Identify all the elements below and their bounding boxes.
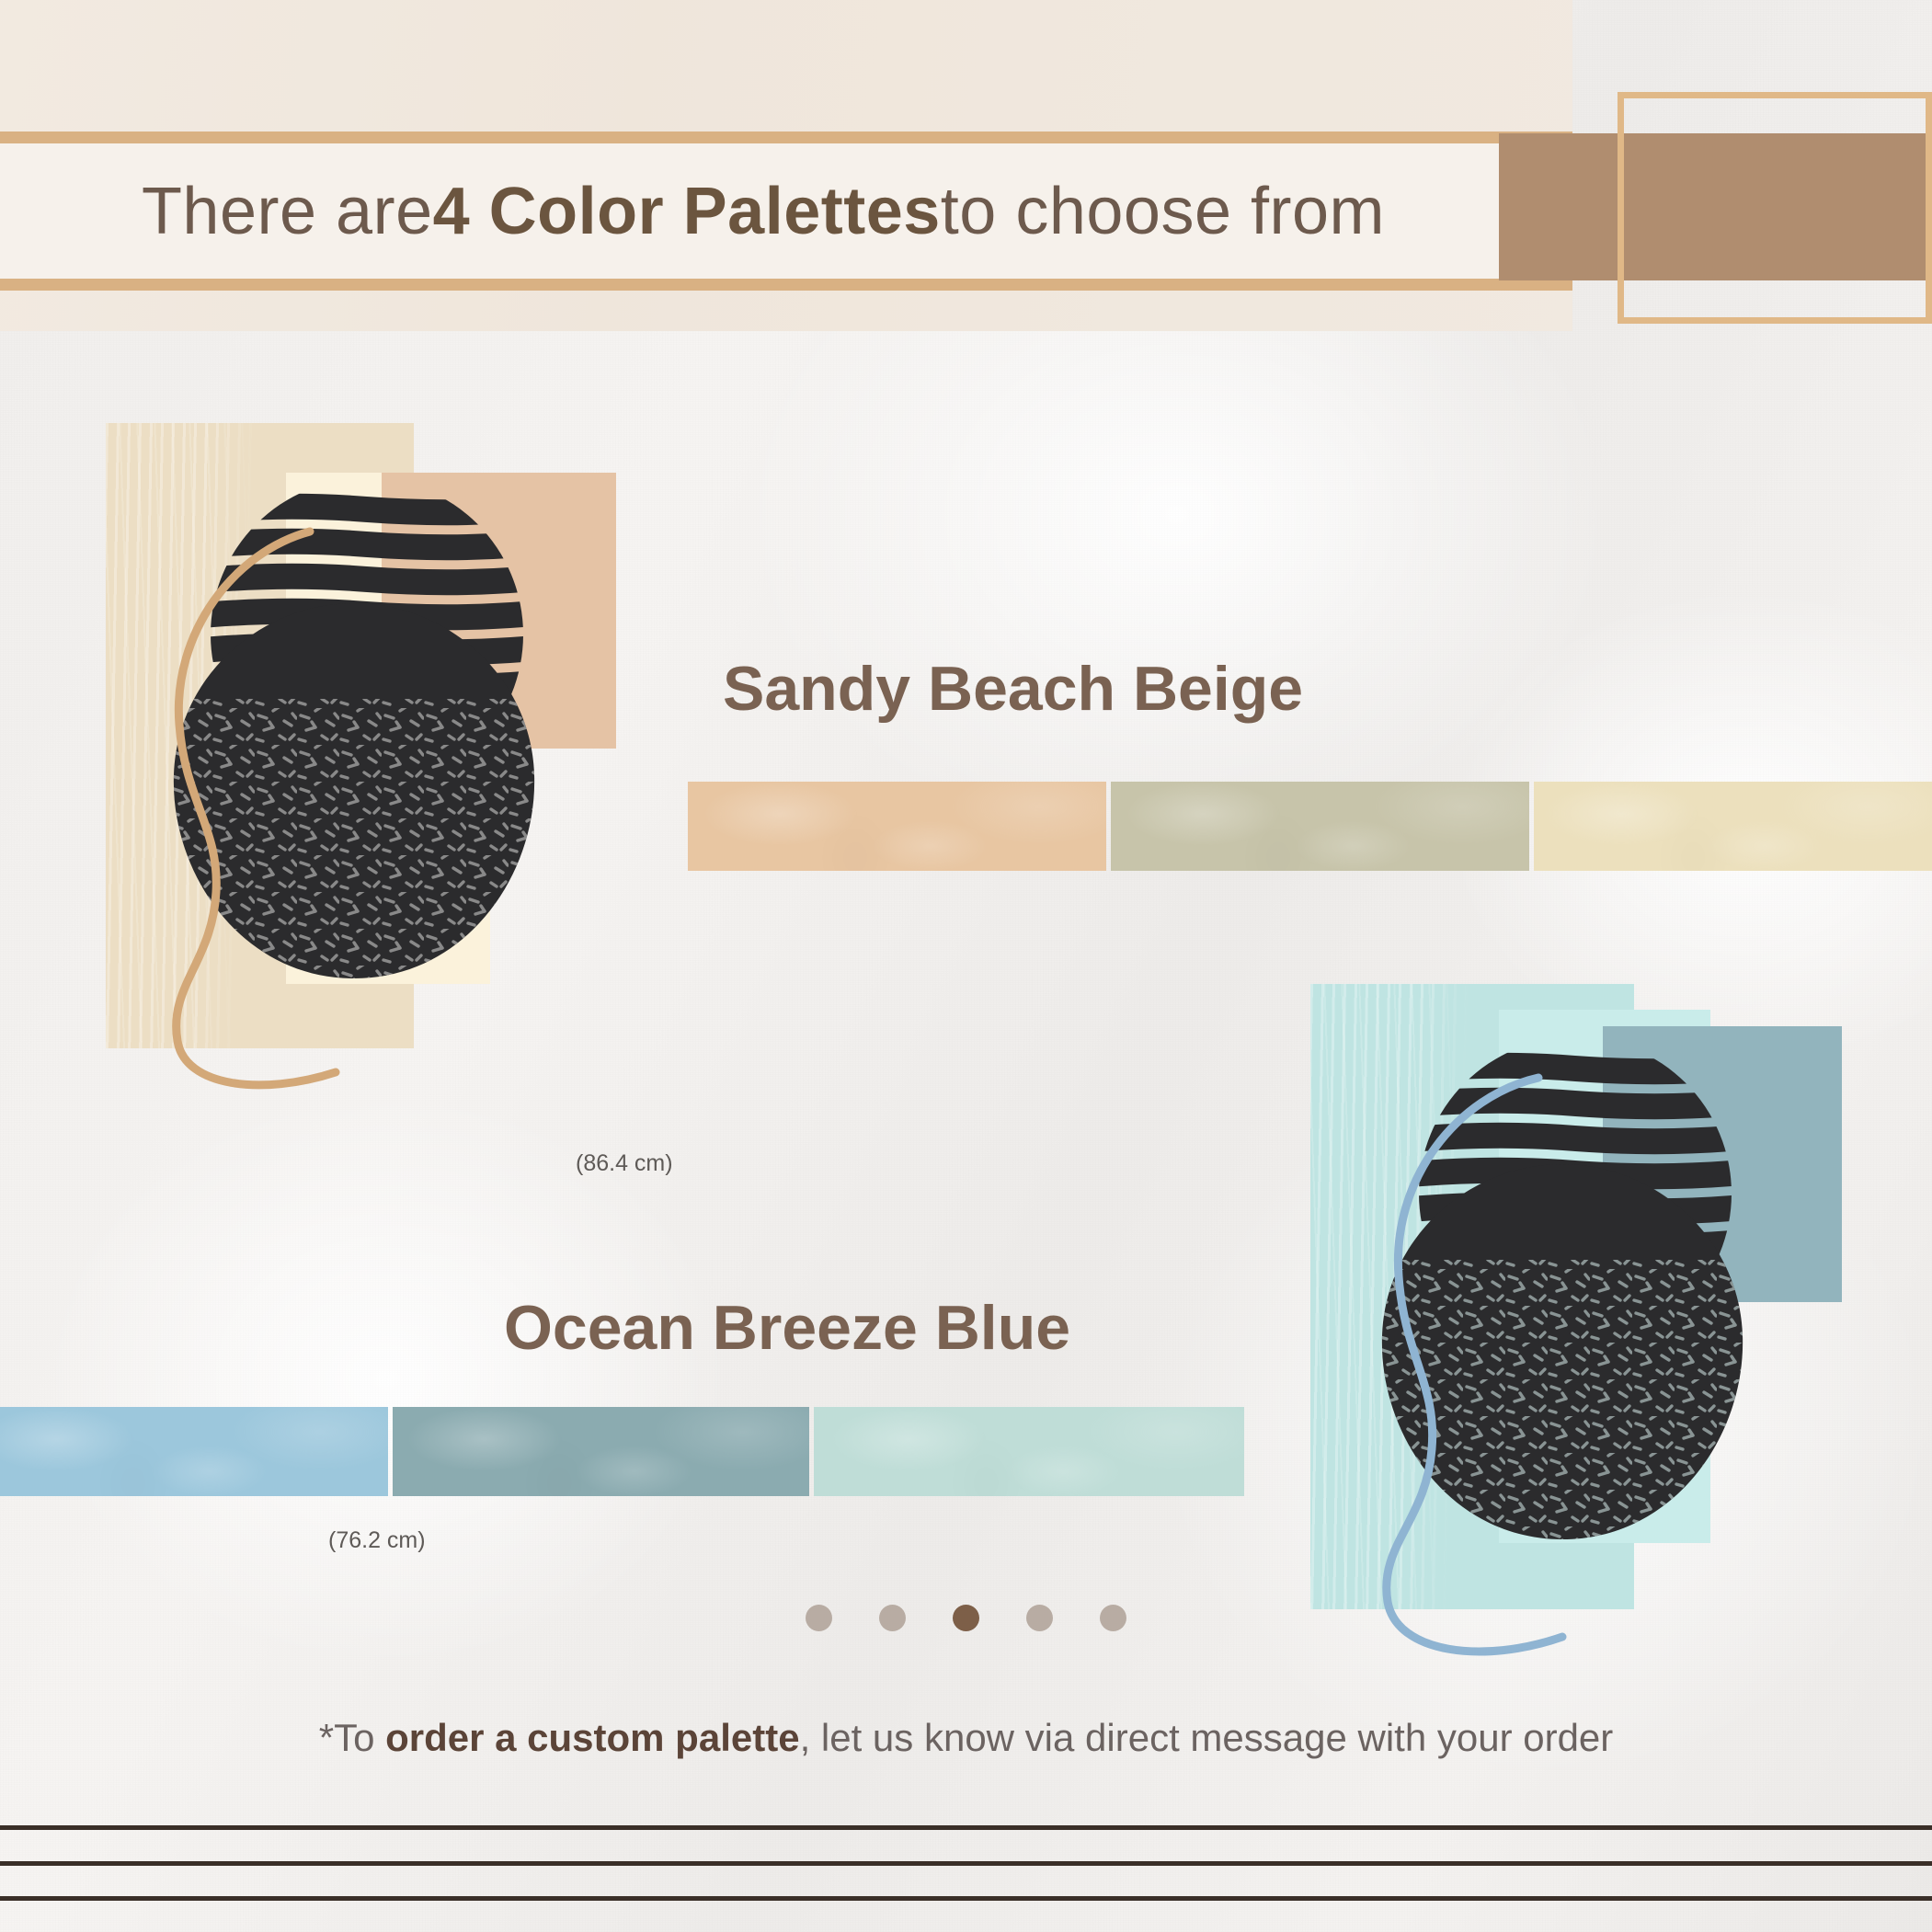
swatch-texture bbox=[393, 1407, 809, 1496]
page-title-suffix: to choose from bbox=[941, 174, 1385, 249]
artwork-sandy-beach-beige bbox=[106, 423, 621, 1067]
page-title-prefix: There are bbox=[142, 174, 433, 249]
footer-prefix: *To bbox=[319, 1716, 385, 1759]
footer-rule-2 bbox=[0, 1861, 1932, 1866]
page-title: There are 4 Color Palettes to choose fro… bbox=[0, 143, 1526, 279]
swatch-pale-mint[interactable] bbox=[814, 1407, 1244, 1496]
carousel-dot-4[interactable] bbox=[1026, 1605, 1053, 1631]
swatch-texture bbox=[814, 1407, 1244, 1496]
swatch-texture bbox=[1534, 782, 1932, 871]
footer-note: *To order a custom palette, let us know … bbox=[0, 1716, 1932, 1760]
artwork-wave-line bbox=[1299, 966, 1869, 1664]
page-title-highlight: 4 Color Palettes bbox=[433, 174, 941, 249]
artwork-ocean-breeze-blue bbox=[1310, 984, 1844, 1628]
footer-rule-1 bbox=[0, 1825, 1932, 1830]
carousel-dot-5[interactable] bbox=[1100, 1605, 1126, 1631]
swatch-slate-teal[interactable] bbox=[393, 1407, 809, 1496]
slide-canvas: There are 4 Color Palettes to choose fro… bbox=[0, 0, 1932, 1932]
swatch-texture bbox=[1111, 782, 1529, 871]
carousel-dots[interactable] bbox=[0, 1605, 1932, 1631]
carousel-dot-1[interactable] bbox=[806, 1605, 832, 1631]
header-rule-top bbox=[0, 131, 1572, 143]
measurement-ocean-breeze-blue: (76.2 cm) bbox=[328, 1527, 426, 1554]
header-outline-frame bbox=[1618, 92, 1932, 324]
header-rule-bottom bbox=[0, 279, 1572, 291]
swatch-texture bbox=[688, 782, 1106, 871]
swatch-texture bbox=[0, 1407, 388, 1496]
palette-title-sandy-beach-beige: Sandy Beach Beige bbox=[723, 653, 1303, 725]
swatch-sky-blue[interactable] bbox=[0, 1407, 388, 1496]
artwork-wave-line bbox=[97, 414, 648, 1085]
footer-rule-3 bbox=[0, 1896, 1932, 1901]
carousel-dot-2[interactable] bbox=[879, 1605, 906, 1631]
footer-suffix: , let us know via direct message with yo… bbox=[800, 1716, 1614, 1759]
swatch-sandy-tan[interactable] bbox=[688, 782, 1106, 871]
footer-highlight: order a custom palette bbox=[385, 1716, 799, 1759]
palette-title-ocean-breeze-blue: Ocean Breeze Blue bbox=[504, 1292, 1070, 1364]
swatch-sage-greige[interactable] bbox=[1111, 782, 1529, 871]
measurement-sandy-beach-beige: (86.4 cm) bbox=[576, 1150, 673, 1177]
carousel-dot-3-active[interactable] bbox=[953, 1605, 979, 1631]
swatch-cream-sand[interactable] bbox=[1534, 782, 1932, 871]
